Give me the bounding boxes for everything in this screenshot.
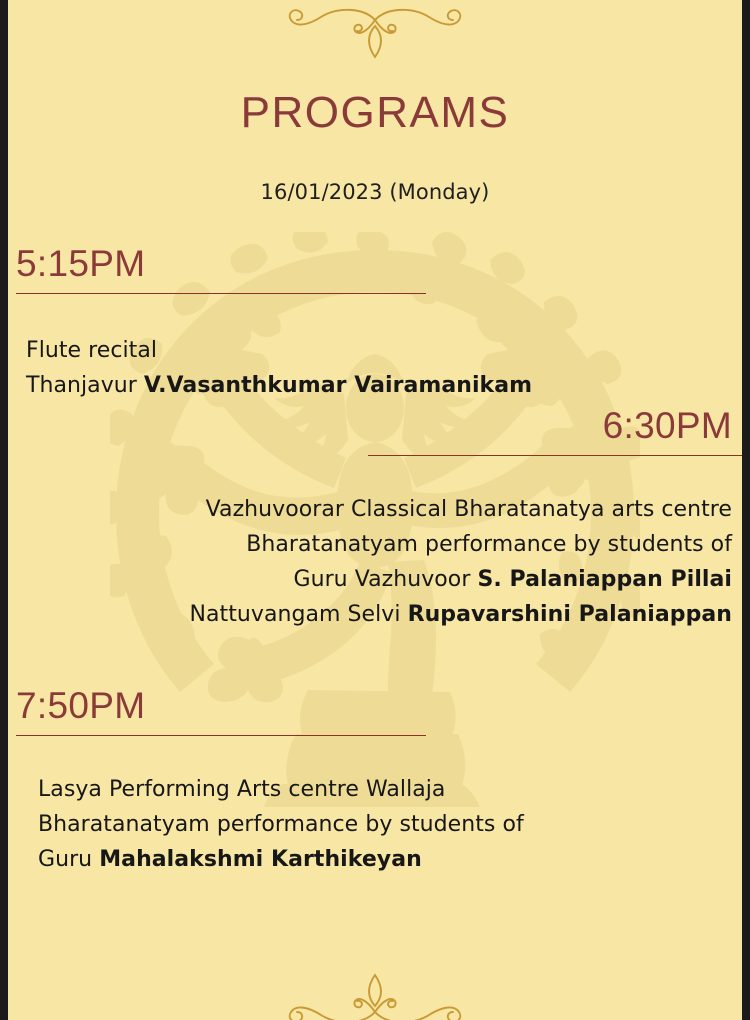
- event-date: 16/01/2023 (Monday): [8, 180, 742, 204]
- program-time-1: 5:15PM: [16, 243, 145, 285]
- program-details-2: Vazhuvoorar Classical Bharatanatya arts …: [189, 492, 732, 632]
- detail-line: Vazhuvoorar Classical Bharatanatya arts …: [189, 492, 732, 527]
- program-time-3: 7:50PM: [16, 685, 145, 727]
- detail-line: Bharatanatyam performance by students of: [189, 527, 732, 562]
- detail-line: Lasya Performing Arts centre Wallaja: [38, 772, 524, 807]
- flourish-divider-ornament: [275, 4, 475, 66]
- program-time-2: 6:30PM: [603, 405, 732, 447]
- page-title: PROGRAMS: [8, 88, 742, 138]
- detail-line: Nattuvangam Selvi Rupavarshini Palaniapp…: [189, 597, 732, 632]
- program-poster: PROGRAMS 16/01/2023 (Monday) 5:15PM Flut…: [0, 0, 750, 1020]
- detail-line: Thanjavur V.Vasanthkumar Vairamanikam: [26, 368, 532, 403]
- detail-line: Bharatanatyam performance by students of: [38, 807, 524, 842]
- detail-line: Guru Vazhuvoor S. Palaniappan Pillai: [189, 562, 732, 597]
- program-details-1: Flute recital Thanjavur V.Vasanthkumar V…: [26, 333, 532, 403]
- program-rule-2: [368, 455, 742, 456]
- program-rule-3: [16, 735, 426, 736]
- program-details-3: Lasya Performing Arts centre Wallaja Bha…: [38, 772, 524, 877]
- detail-line: Guru Mahalakshmi Karthikeyan: [38, 842, 524, 877]
- flourish-divider-ornament-flipped: [275, 966, 475, 1020]
- detail-line: Flute recital: [26, 333, 532, 368]
- program-rule-1: [16, 293, 426, 294]
